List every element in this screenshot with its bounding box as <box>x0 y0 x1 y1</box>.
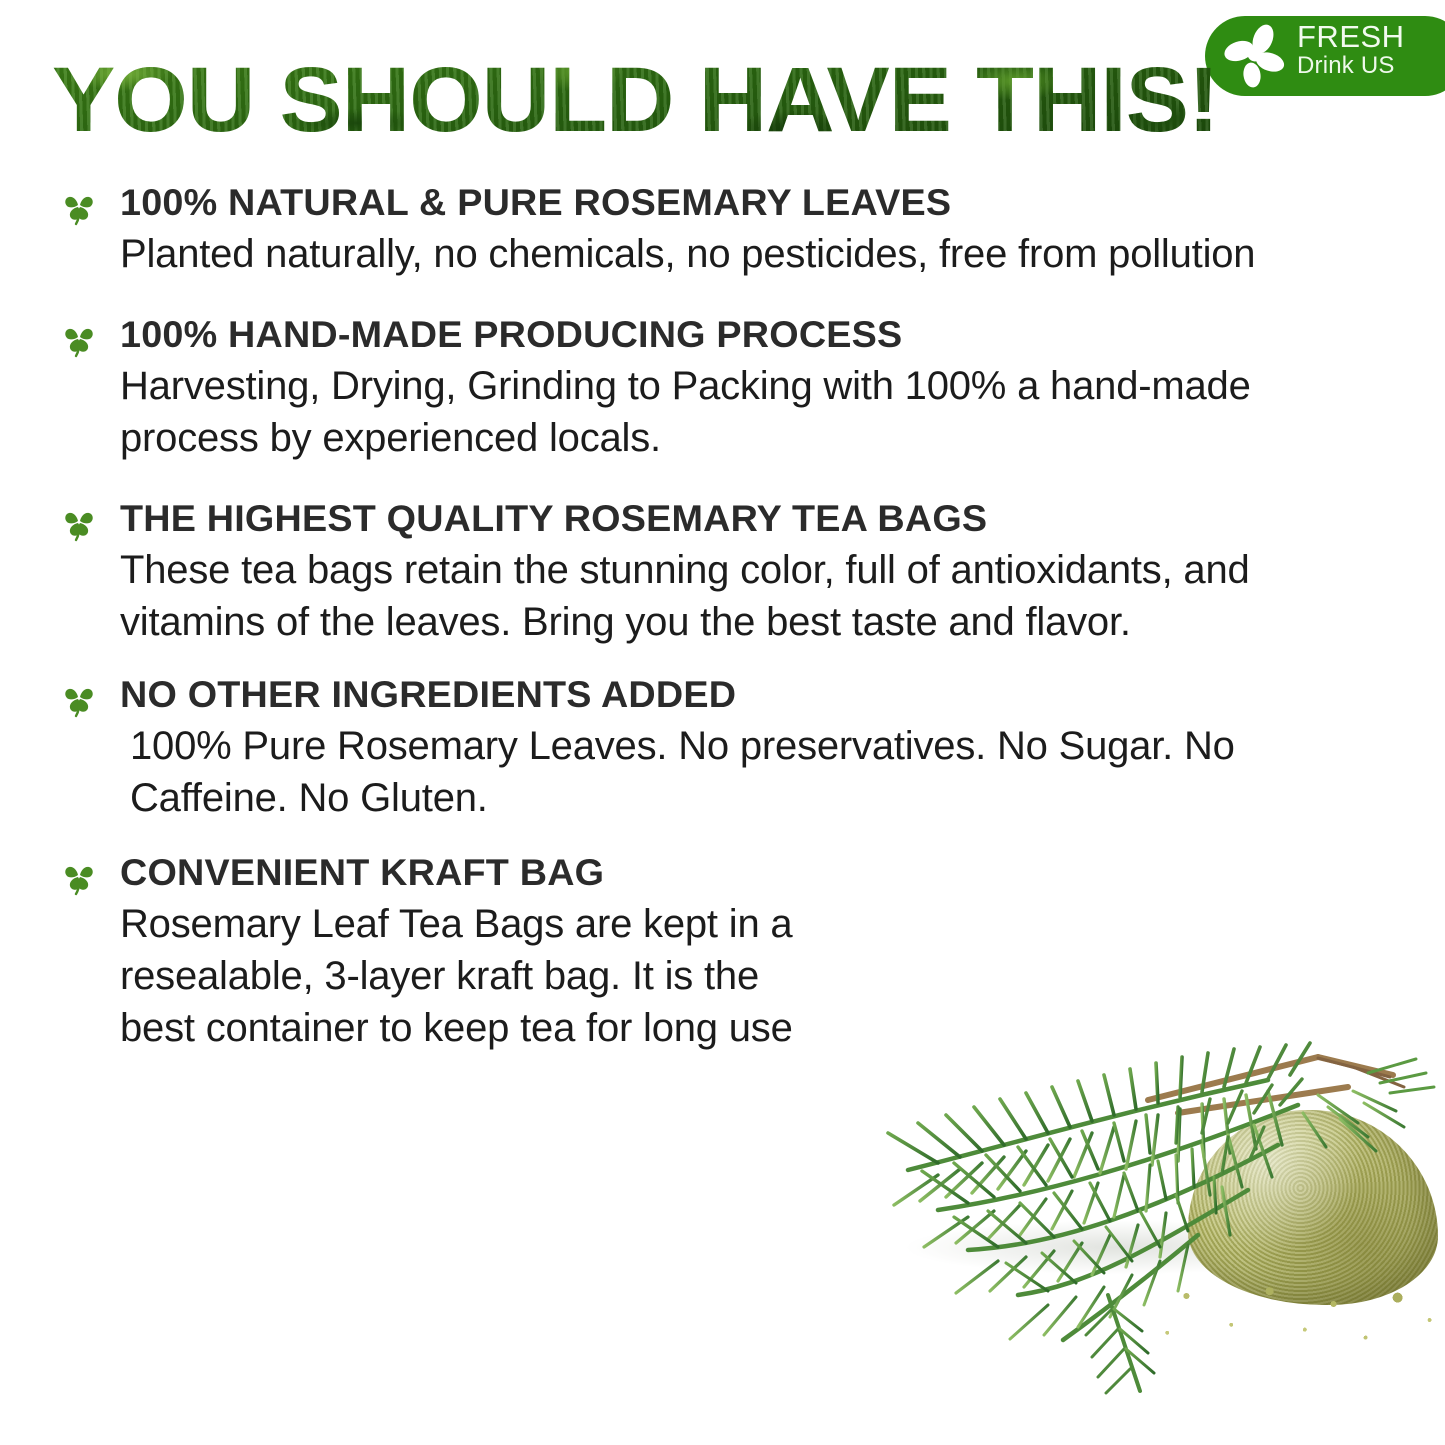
feature-list: 100% NATURAL & PURE ROSEMARY LEAVES Plan… <box>0 182 1340 1084</box>
leaf-cluster-icon <box>1219 24 1289 88</box>
list-item-body: 100% Pure Rosemary Leaves. No preservati… <box>120 720 1320 824</box>
rosemary-sprigs <box>848 995 1445 1395</box>
four-leaf-clover-icon <box>58 678 100 720</box>
list-item: NO OTHER INGREDIENTS ADDED 100% Pure Ros… <box>0 674 1340 824</box>
brand-logo[interactable]: FRESH Drink US <box>1205 16 1445 96</box>
list-item: 100% NATURAL & PURE ROSEMARY LEAVES Plan… <box>0 182 1340 280</box>
rosemary-sprigs-and-powder-photo <box>848 995 1445 1395</box>
list-item-title: 100% HAND-MADE PRODUCING PROCESS <box>120 314 1364 356</box>
page-title: YOU SHOULD HAVE THIS! <box>52 52 1192 148</box>
four-leaf-clover-icon <box>58 856 100 898</box>
logo-name-line1: FRESH <box>1297 21 1445 52</box>
list-item-body: These tea bags retain the stunning color… <box>120 544 1335 648</box>
logo-name-line2: Drink US <box>1297 54 1445 78</box>
four-leaf-clover-icon <box>58 186 100 228</box>
list-item-body: Rosemary Leaf Tea Bags are kept in a res… <box>120 898 800 1054</box>
list-item-title: NO OTHER INGREDIENTS ADDED <box>120 674 1364 716</box>
list-item-body: Harvesting, Drying, Grinding to Packing … <box>120 360 1310 464</box>
page-title-text: YOU SHOULD HAVE THIS! <box>52 52 1226 148</box>
list-item-title: 100% NATURAL & PURE ROSEMARY LEAVES <box>120 182 1364 224</box>
list-item-body: Planted naturally, no chemicals, no pest… <box>120 228 1310 280</box>
four-leaf-clover-icon <box>58 502 100 544</box>
logo-wordmark: FRESH Drink US <box>1297 21 1445 78</box>
list-item-title: THE HIGHEST QUALITY ROSEMARY TEA BAGS <box>120 498 1364 540</box>
four-leaf-clover-icon <box>58 318 100 360</box>
list-item: THE HIGHEST QUALITY ROSEMARY TEA BAGS Th… <box>0 498 1340 648</box>
list-item: 100% HAND-MADE PRODUCING PROCESS Harvest… <box>0 314 1340 464</box>
list-item-title: CONVENIENT KRAFT BAG <box>120 852 1364 894</box>
